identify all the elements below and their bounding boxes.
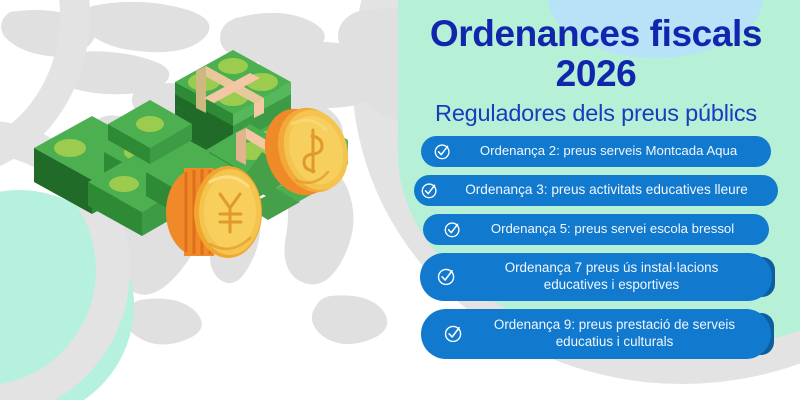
gold-coin-yen	[166, 166, 262, 258]
poster-canvas: Ordenances fiscals 2026 Reguladores dels…	[0, 0, 800, 400]
page-title: Ordenances fiscals 2026	[392, 0, 800, 94]
ordinance-list: Ordenança 2: preus serveis Montcada Aqua…	[392, 136, 800, 359]
list-item-label: Ordenança 3: preus activitats educatives…	[443, 182, 770, 199]
check-circle-icon	[436, 266, 457, 287]
list-item[interactable]: Ordenança 3: preus activitats educatives…	[414, 175, 778, 206]
check-circle-icon	[420, 181, 439, 200]
check-circle-icon	[433, 142, 452, 161]
list-item-label: Ordenança 2: preus serveis Montcada Aqua	[456, 143, 761, 160]
content-column: Ordenances fiscals 2026 Reguladores dels…	[392, 0, 800, 400]
list-item-label: Ordenança 5: preus servei escola bressol	[466, 221, 759, 238]
money-illustration	[0, 0, 400, 400]
title-line-1: Ordenances fiscals	[430, 13, 762, 54]
list-item-label: Ordenança 7 preus ús instal·lacions educ…	[461, 260, 762, 294]
list-item[interactable]: Ordenança 7 preus ús instal·lacions educ…	[420, 253, 772, 301]
check-circle-icon	[443, 323, 464, 344]
list-item[interactable]: Ordenança 2: preus serveis Montcada Aqua	[421, 136, 771, 167]
list-item[interactable]: Ordenança 5: preus servei escola bressol	[423, 214, 769, 245]
list-item-label: Ordenança 9: preus prestació de serveis …	[468, 317, 761, 351]
list-item[interactable]: Ordenança 9: preus prestació de serveis …	[421, 309, 771, 359]
title-line-2: 2026	[556, 53, 637, 94]
page-subtitle: Reguladores dels preus públics	[392, 100, 800, 127]
check-circle-icon	[443, 220, 462, 239]
